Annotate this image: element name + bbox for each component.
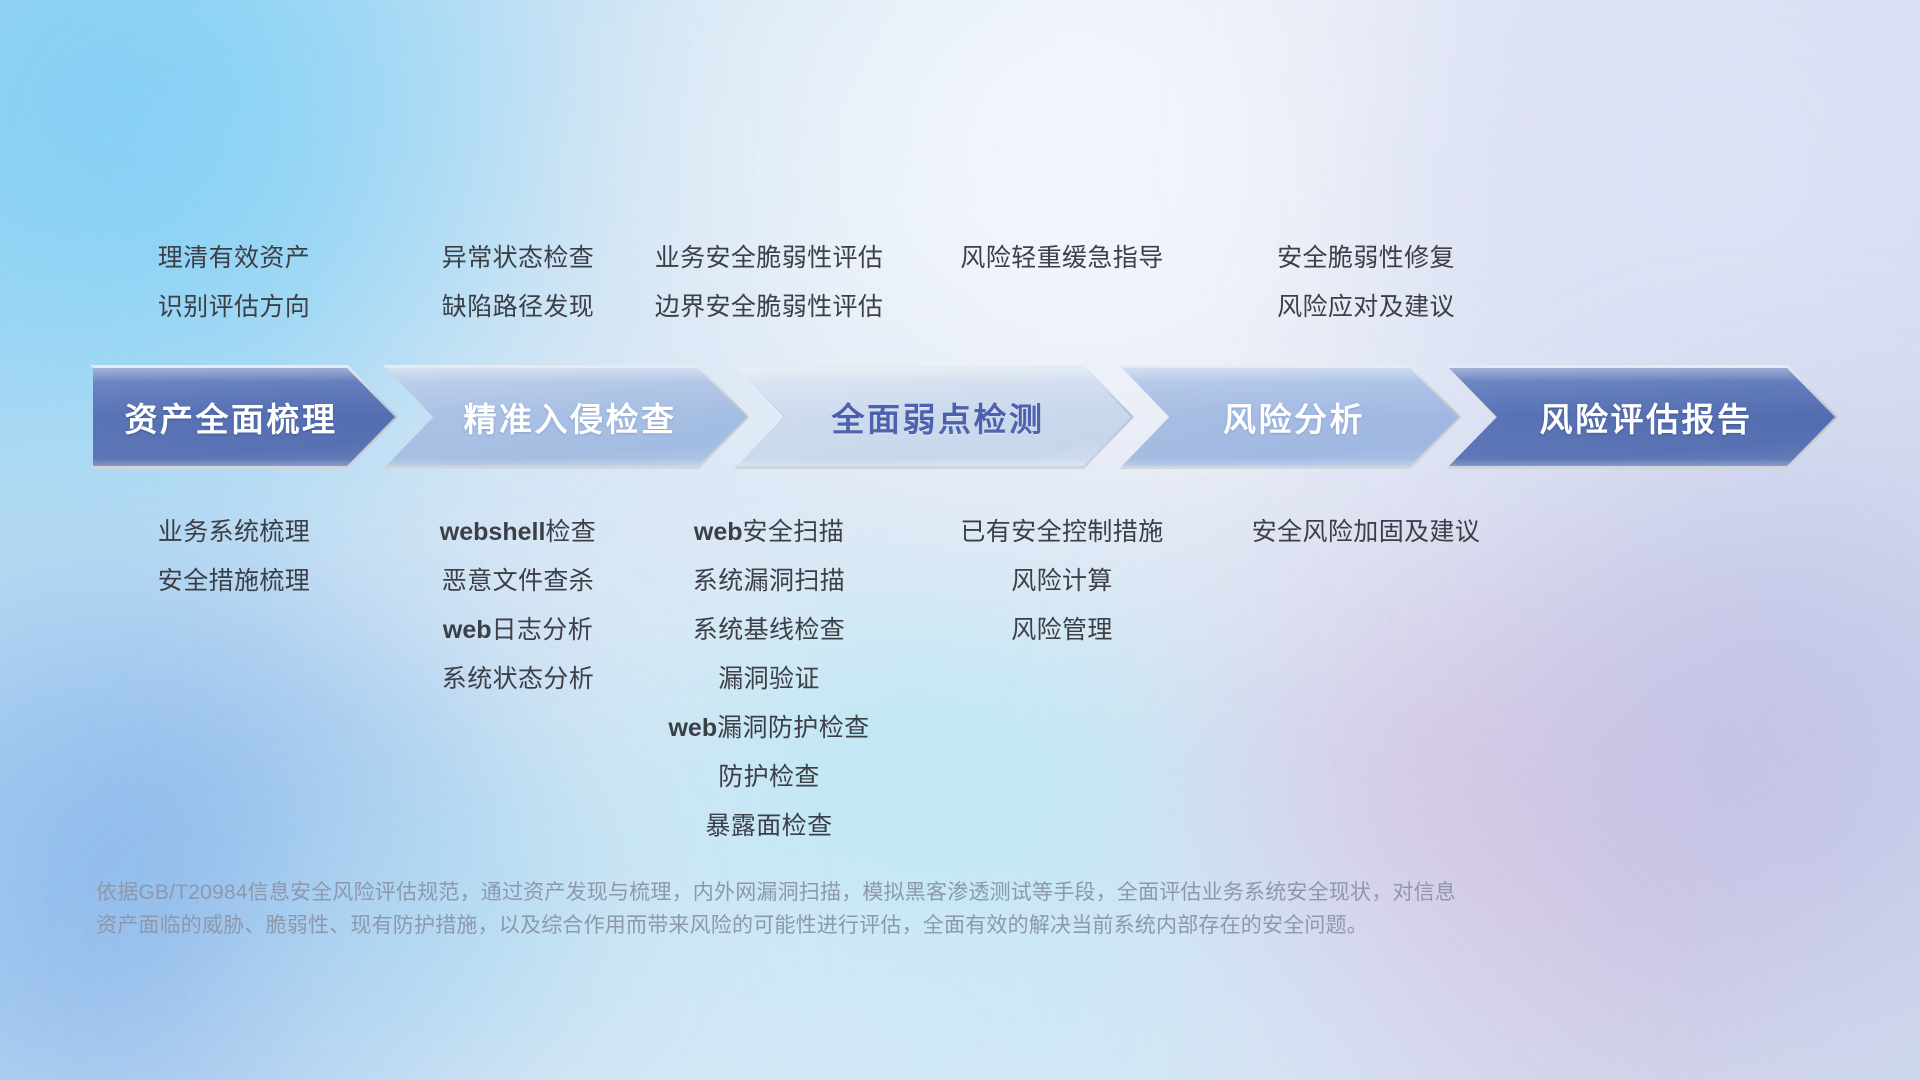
list-item-cjk: 业务系统梳理 xyxy=(158,518,310,546)
list-item-cjk: 系统基线检查 xyxy=(693,616,845,644)
stage-chevron-3[interactable]: 全面弱点检测 xyxy=(737,368,1131,466)
list-item-cjk: 日志分析 xyxy=(492,616,594,644)
list-item: web漏洞防护检查 xyxy=(583,704,955,753)
list-item: 漏洞验证 xyxy=(583,655,955,704)
top-item: 安全脆弱性修复 xyxy=(1180,234,1552,283)
list-item-cjk: 已有安全控制措施 xyxy=(960,518,1163,546)
list-item-cjk: 恶意文件查杀 xyxy=(442,567,594,595)
list-item-cjk: 系统漏洞扫描 xyxy=(693,567,845,595)
process-diagram: 理清有效资产 识别评估方向 异常状态检查 缺陷路径发现 业务安全脆弱性评估 边界… xyxy=(0,0,1920,1080)
list-item-cjk: 安全扫描 xyxy=(743,518,845,546)
list-item: 防护检查 xyxy=(583,753,955,802)
top-item: 风险应对及建议 xyxy=(1180,283,1552,332)
list-item: 安全风险加固及建议 xyxy=(1180,508,1552,557)
list-item: 暴露面检查 xyxy=(583,802,955,851)
footer-description: 依据GB/T20984信息安全风险评估规范，通过资产发现与梳理，内外网漏洞扫描，… xyxy=(96,876,1596,942)
list-item-latin: web xyxy=(668,714,717,742)
list-item-cjk: 暴露面检查 xyxy=(705,812,832,840)
stage-label-3: 全面弱点检测 xyxy=(737,393,1131,441)
top-item: 边界安全脆弱性评估 xyxy=(583,283,955,332)
list-item-cjk: 防护检查 xyxy=(718,763,820,791)
stage-label-2: 精准入侵检查 xyxy=(386,393,746,441)
footer-line-2: 资产面临的威胁、脆弱性、现有防护措施，以及综合作用而带来风险的可能性进行评估，全… xyxy=(96,909,1596,942)
stage-chevron-1[interactable]: 资产全面梳理 xyxy=(93,368,395,466)
stage-label-4: 风险分析 xyxy=(1122,393,1458,441)
list-item-cjk: 系统状态分析 xyxy=(442,665,594,693)
process-arrow-row: 资产全面梳理 精准入侵检查 全面弱点检测 风险分析 风险评估报告 xyxy=(0,368,1920,466)
footer-line-1: 依据GB/T20984信息安全风险评估规范，通过资产发现与梳理，内外网漏洞扫描，… xyxy=(96,876,1596,909)
list-item-cjk: 安全风险加固及建议 xyxy=(1252,518,1481,546)
list-item-cjk: 风险计算 xyxy=(1011,567,1113,595)
list-item-cjk: 漏洞验证 xyxy=(718,665,820,693)
list-item-latin: web xyxy=(443,616,492,644)
list-item-latin: web xyxy=(694,518,743,546)
stage-label-5: 风险评估报告 xyxy=(1449,393,1835,441)
list-item-latin: webshell xyxy=(440,518,546,546)
list-item: 风险管理 xyxy=(876,606,1248,655)
stage-chevron-4[interactable]: 风险分析 xyxy=(1122,368,1458,466)
bottom-items-stage-5: 安全风险加固及建议 xyxy=(1180,508,1552,557)
top-items-stage-5: 安全脆弱性修复 风险应对及建议 xyxy=(1180,234,1552,332)
list-item-cjk: 风险管理 xyxy=(1011,616,1113,644)
list-item-cjk: 安全措施梳理 xyxy=(158,567,310,595)
stage-chevron-5[interactable]: 风险评估报告 xyxy=(1449,368,1835,466)
stage-label-1: 资产全面梳理 xyxy=(93,393,395,441)
stage-chevron-2[interactable]: 精准入侵检查 xyxy=(386,368,746,466)
list-item: 风险计算 xyxy=(876,557,1248,606)
list-item-cjk: 漏洞防护检查 xyxy=(717,714,869,742)
